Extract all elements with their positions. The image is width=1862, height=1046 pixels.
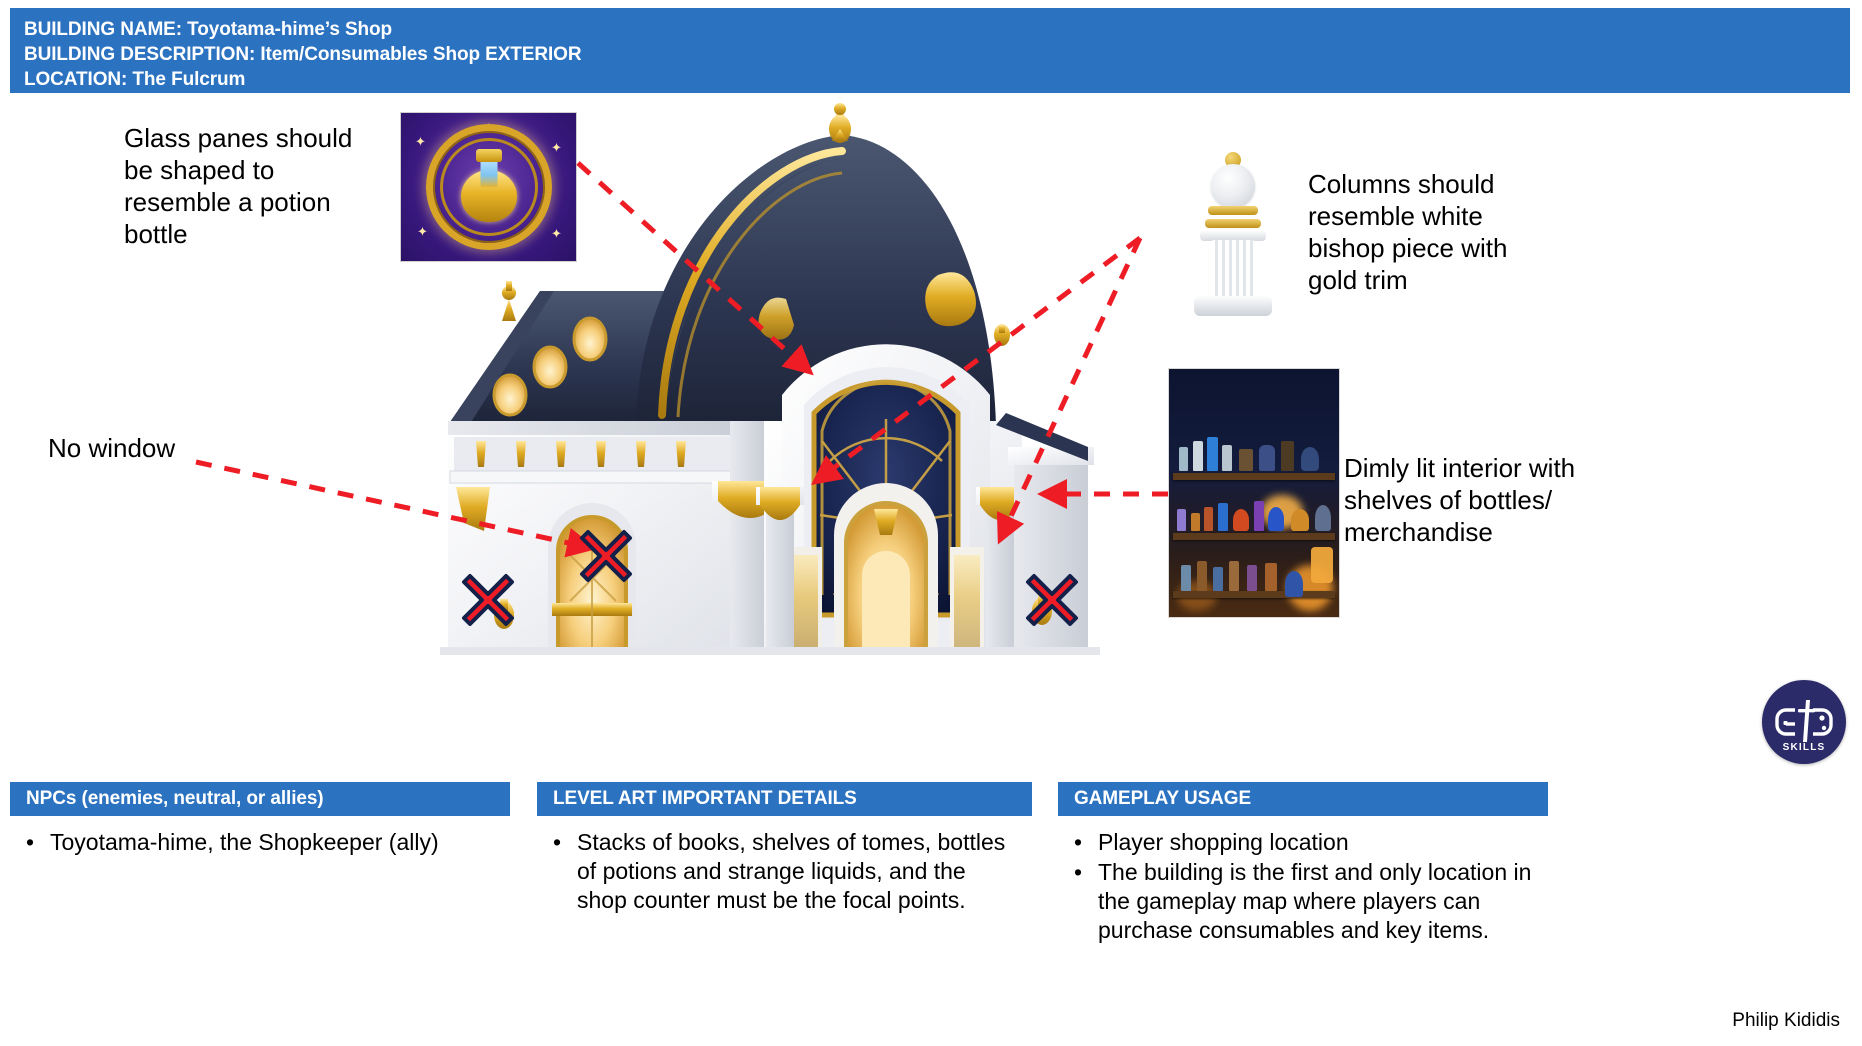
bottle [1177, 509, 1186, 531]
bottle [1204, 507, 1213, 531]
bottle [1218, 503, 1228, 531]
section-npcs-body: • Toyotama-hime, the Shopkeeper (ally) [10, 816, 510, 857]
header-banner: BUILDING NAME: Toyotama-hime’s Shop BUIL… [10, 8, 1850, 93]
section-level-art: LEVEL ART IMPORTANT DETAILS • Stacks of … [537, 782, 1032, 916]
section-gameplay-usage-body: • Player shopping location • The buildin… [1058, 816, 1548, 945]
bottle [1207, 437, 1218, 471]
shelf-row [1173, 473, 1335, 480]
list-item-text: Player shopping location [1098, 828, 1546, 857]
list-item-text: Stacks of books, shelves of tomes, bottl… [577, 828, 1007, 915]
bottle [1254, 501, 1264, 531]
flask [1268, 507, 1284, 531]
list-item: • The building is the first and only loc… [1058, 858, 1548, 945]
section-npcs: NPCs (enemies, neutral, or allies) • Toy… [10, 782, 510, 858]
white-bishop-chess-piece-reference-image [1128, 140, 1338, 322]
slide-canvas: BUILDING NAME: Toyotama-hime’s Shop BUIL… [0, 0, 1862, 1046]
section-level-art-body: • Stacks of books, shelves of tomes, bot… [537, 816, 1032, 915]
bottle [1281, 441, 1294, 471]
jar [1259, 445, 1275, 471]
list-item: • Stacks of books, shelves of tomes, bot… [537, 828, 1032, 915]
header-building-description: BUILDING DESCRIPTION: Item/Consumables S… [24, 42, 1850, 67]
list-item-text: The building is the first and only locat… [1098, 858, 1546, 945]
annotation-interior: Dimly lit interior with shelves of bottl… [1344, 452, 1584, 548]
bottle [1229, 561, 1239, 591]
bishop-gold-band-lower [1205, 219, 1261, 228]
section-level-art-title: LEVEL ART IMPORTANT DETAILS [537, 782, 1032, 816]
header-building-name: BUILDING NAME: Toyotama-hime’s Shop [24, 17, 1850, 42]
flask [1233, 509, 1249, 531]
toyotama-hime-shop-exterior-concept-art [430, 95, 1110, 655]
bishop-sphere [1211, 164, 1255, 208]
flask [1285, 571, 1303, 597]
shelf-row [1173, 591, 1335, 598]
bottle [1213, 567, 1223, 591]
list-item: • Toyotama-hime, the Shopkeeper (ally) [10, 828, 510, 857]
bishop-gold-band-upper [1208, 206, 1258, 215]
no-window-x-marker [578, 528, 634, 584]
section-gameplay-usage: GAMEPLAY USAGE • Player shopping locatio… [1058, 782, 1548, 946]
no-window-x-marker [1024, 572, 1080, 628]
bishop-base [1194, 296, 1272, 316]
bullet-icon: • [537, 828, 577, 915]
header-location: LOCATION: The Fulcrum [24, 67, 1850, 92]
sparkle-icon: ✦ [415, 135, 426, 148]
bottle [1191, 513, 1200, 531]
list-item: • Player shopping location [1058, 828, 1548, 857]
lantern-icon [1311, 547, 1333, 583]
bullet-icon: • [1058, 828, 1098, 857]
bottle [1197, 561, 1207, 591]
flask [1291, 509, 1309, 531]
bottle [1265, 563, 1277, 591]
bishop-fluted-shaft [1211, 240, 1255, 300]
section-npcs-title: NPCs (enemies, neutral, or allies) [10, 782, 510, 816]
flask [1315, 505, 1331, 531]
bullet-icon: • [10, 828, 50, 857]
bottle [1179, 447, 1188, 471]
section-gameplay-usage-title: GAMEPLAY USAGE [1058, 782, 1548, 816]
gd-skills-logo: SKILLS [1762, 680, 1846, 764]
annotation-columns: Columns should resemble white bishop pie… [1308, 168, 1558, 296]
no-window-x-marker [460, 572, 516, 628]
flask [1301, 447, 1319, 471]
annotation-no-window: No window [48, 432, 288, 464]
logo-mark: SKILLS [1762, 680, 1846, 764]
bottle [1222, 445, 1232, 471]
bullet-icon: • [1058, 858, 1098, 945]
sparkle-icon: ✦ [417, 225, 428, 238]
bottle [1181, 565, 1191, 591]
dimly-lit-shop-interior-reference-image [1168, 368, 1340, 618]
annotation-glass-panes: Glass panes should be shaped to resemble… [124, 122, 370, 250]
bottle [1193, 441, 1203, 471]
logo-text: SKILLS [1783, 742, 1826, 753]
bottle [1247, 565, 1257, 591]
shelf-row [1173, 533, 1335, 540]
jar [1239, 449, 1253, 471]
list-item-text: Toyotama-hime, the Shopkeeper (ally) [50, 828, 510, 857]
author-signature: Philip Kididis [1732, 1010, 1840, 1032]
